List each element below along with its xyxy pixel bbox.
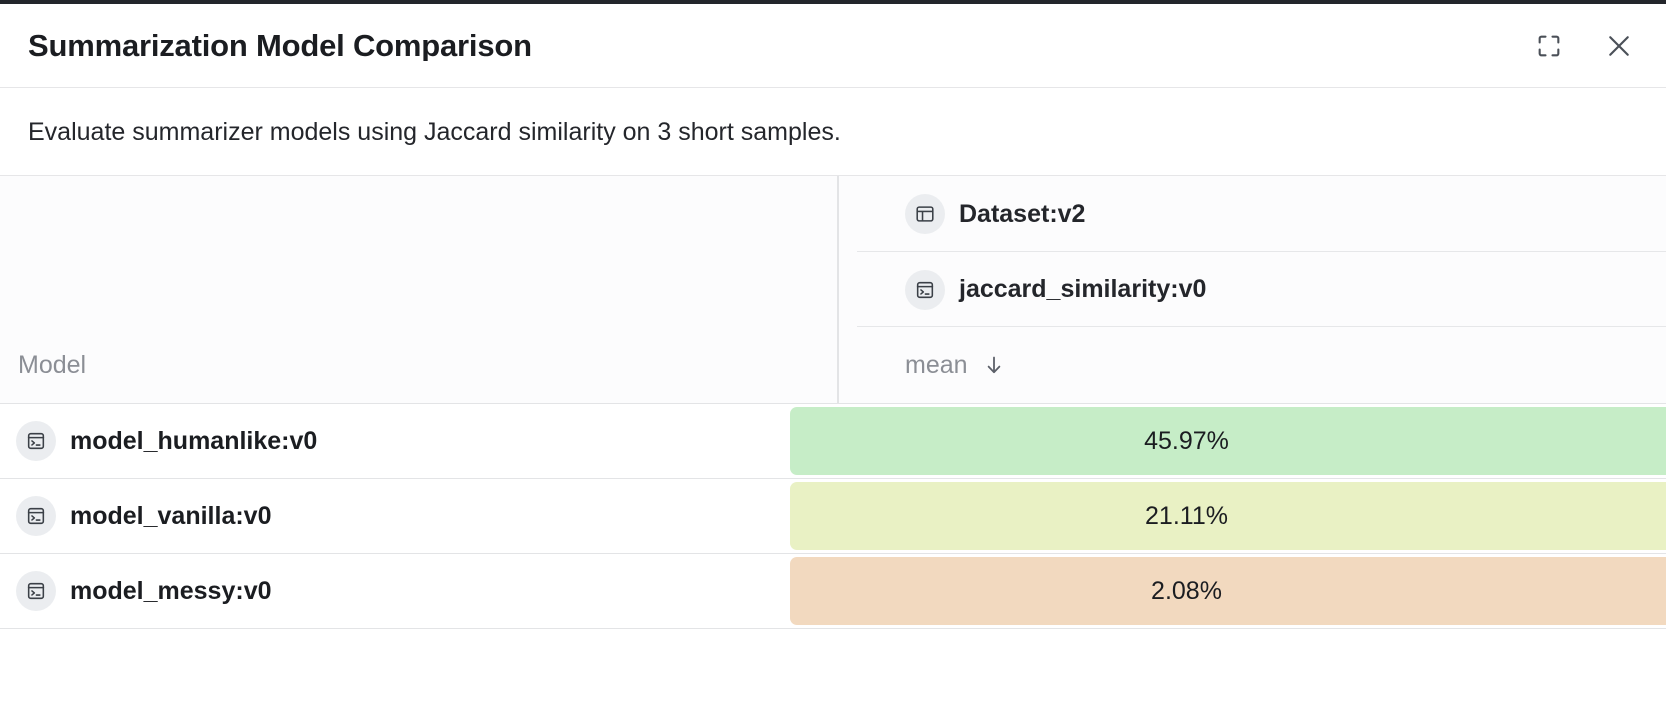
- model-name: model_humanlike:v0: [70, 427, 317, 456]
- page-title: Summarization Model Comparison: [28, 30, 1532, 61]
- model-column-label: Model: [16, 351, 86, 380]
- metric-value-cell: 2.08%: [790, 554, 1666, 628]
- metric-value: 45.97%: [1144, 427, 1229, 456]
- metric-value-pill: [790, 557, 1666, 625]
- model-cell: model_vanilla:v0: [0, 479, 790, 553]
- summarization-comparison-modal: Summarization Model Comparison Evaluate …: [0, 0, 1666, 712]
- model-cell: model_messy:v0: [0, 554, 790, 628]
- dataset-header-cell[interactable]: Dataset:v2: [837, 176, 1666, 252]
- table-row[interactable]: model_vanilla:v0 21.11%: [0, 478, 1666, 553]
- mean-column-label: mean: [905, 351, 968, 380]
- metric-label: jaccard_similarity:v0: [959, 275, 1206, 304]
- arrow-down-icon[interactable]: [982, 352, 1006, 378]
- model-name: model_vanilla:v0: [70, 502, 271, 531]
- table-row[interactable]: model_humanlike:v0 45.97%: [0, 403, 1666, 478]
- dataset-header-spacer: [0, 176, 790, 252]
- terminal-icon: [16, 496, 56, 536]
- metric-value: 21.11%: [1145, 502, 1228, 531]
- titlebar-actions: [1532, 29, 1636, 63]
- modal-description-bar: Evaluate summarizer models using Jaccard…: [0, 88, 1666, 176]
- mean-sort-control[interactable]: mean: [905, 351, 1006, 380]
- close-icon[interactable]: [1602, 29, 1636, 63]
- metric-value: 2.08%: [1151, 577, 1222, 606]
- mean-column-header[interactable]: mean: [837, 327, 1666, 403]
- metric-header-cell[interactable]: jaccard_similarity:v0: [837, 252, 1666, 327]
- dataset-header-row: Dataset:v2: [0, 176, 1666, 252]
- metric-value-cell: 21.11%: [790, 479, 1666, 553]
- table-header-group: Dataset:v2 jaccard_similarity:v0: [0, 176, 1666, 403]
- terminal-icon: [16, 571, 56, 611]
- table-body: model_humanlike:v0 45.97%: [0, 403, 1666, 629]
- model-name: model_messy:v0: [70, 577, 272, 606]
- model-cell: model_humanlike:v0: [0, 404, 790, 478]
- table-bottom-divider: [0, 628, 1666, 629]
- metric-value-pill: [790, 482, 1666, 550]
- terminal-icon: [905, 270, 945, 310]
- expand-icon[interactable]: [1532, 29, 1566, 63]
- dataset-table-icon: [905, 194, 945, 234]
- metric-header-spacer: [0, 252, 790, 327]
- model-column-header[interactable]: Model: [0, 327, 790, 403]
- table-row[interactable]: model_messy:v0 2.08%: [0, 553, 1666, 628]
- dataset-label: Dataset:v2: [959, 200, 1085, 229]
- column-label-row: Model mean: [0, 327, 1666, 403]
- modal-description: Evaluate summarizer models using Jaccard…: [28, 117, 841, 147]
- metric-header-row: jaccard_similarity:v0: [0, 252, 1666, 327]
- metric-value-cell: 45.97%: [790, 404, 1666, 478]
- comparison-table: Dataset:v2 jaccard_similarity:v0: [0, 176, 1666, 712]
- terminal-icon: [16, 421, 56, 461]
- modal-titlebar: Summarization Model Comparison: [0, 4, 1666, 88]
